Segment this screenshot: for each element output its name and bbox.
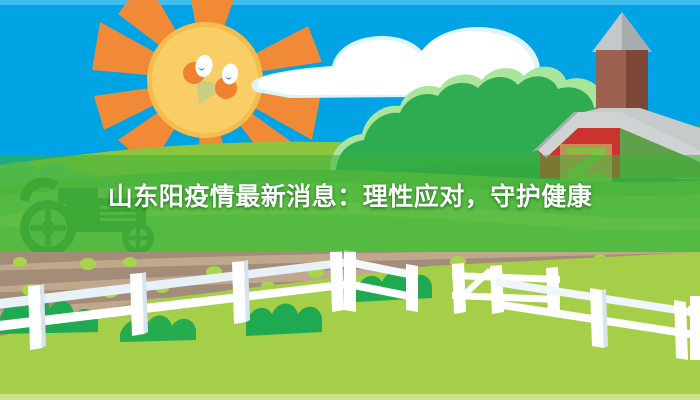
grass-bottom-strip	[0, 394, 700, 400]
sky-top-highlight	[0, 0, 700, 5]
gate-post-left	[452, 263, 466, 314]
corner-post	[690, 296, 700, 360]
page-title: 山东阳疫情最新消息：理性应对，守护健康	[0, 177, 700, 217]
sun-disc-inner	[152, 27, 258, 133]
banner-image: 山东阳疫情最新消息：理性应对，守护健康	[0, 0, 700, 400]
